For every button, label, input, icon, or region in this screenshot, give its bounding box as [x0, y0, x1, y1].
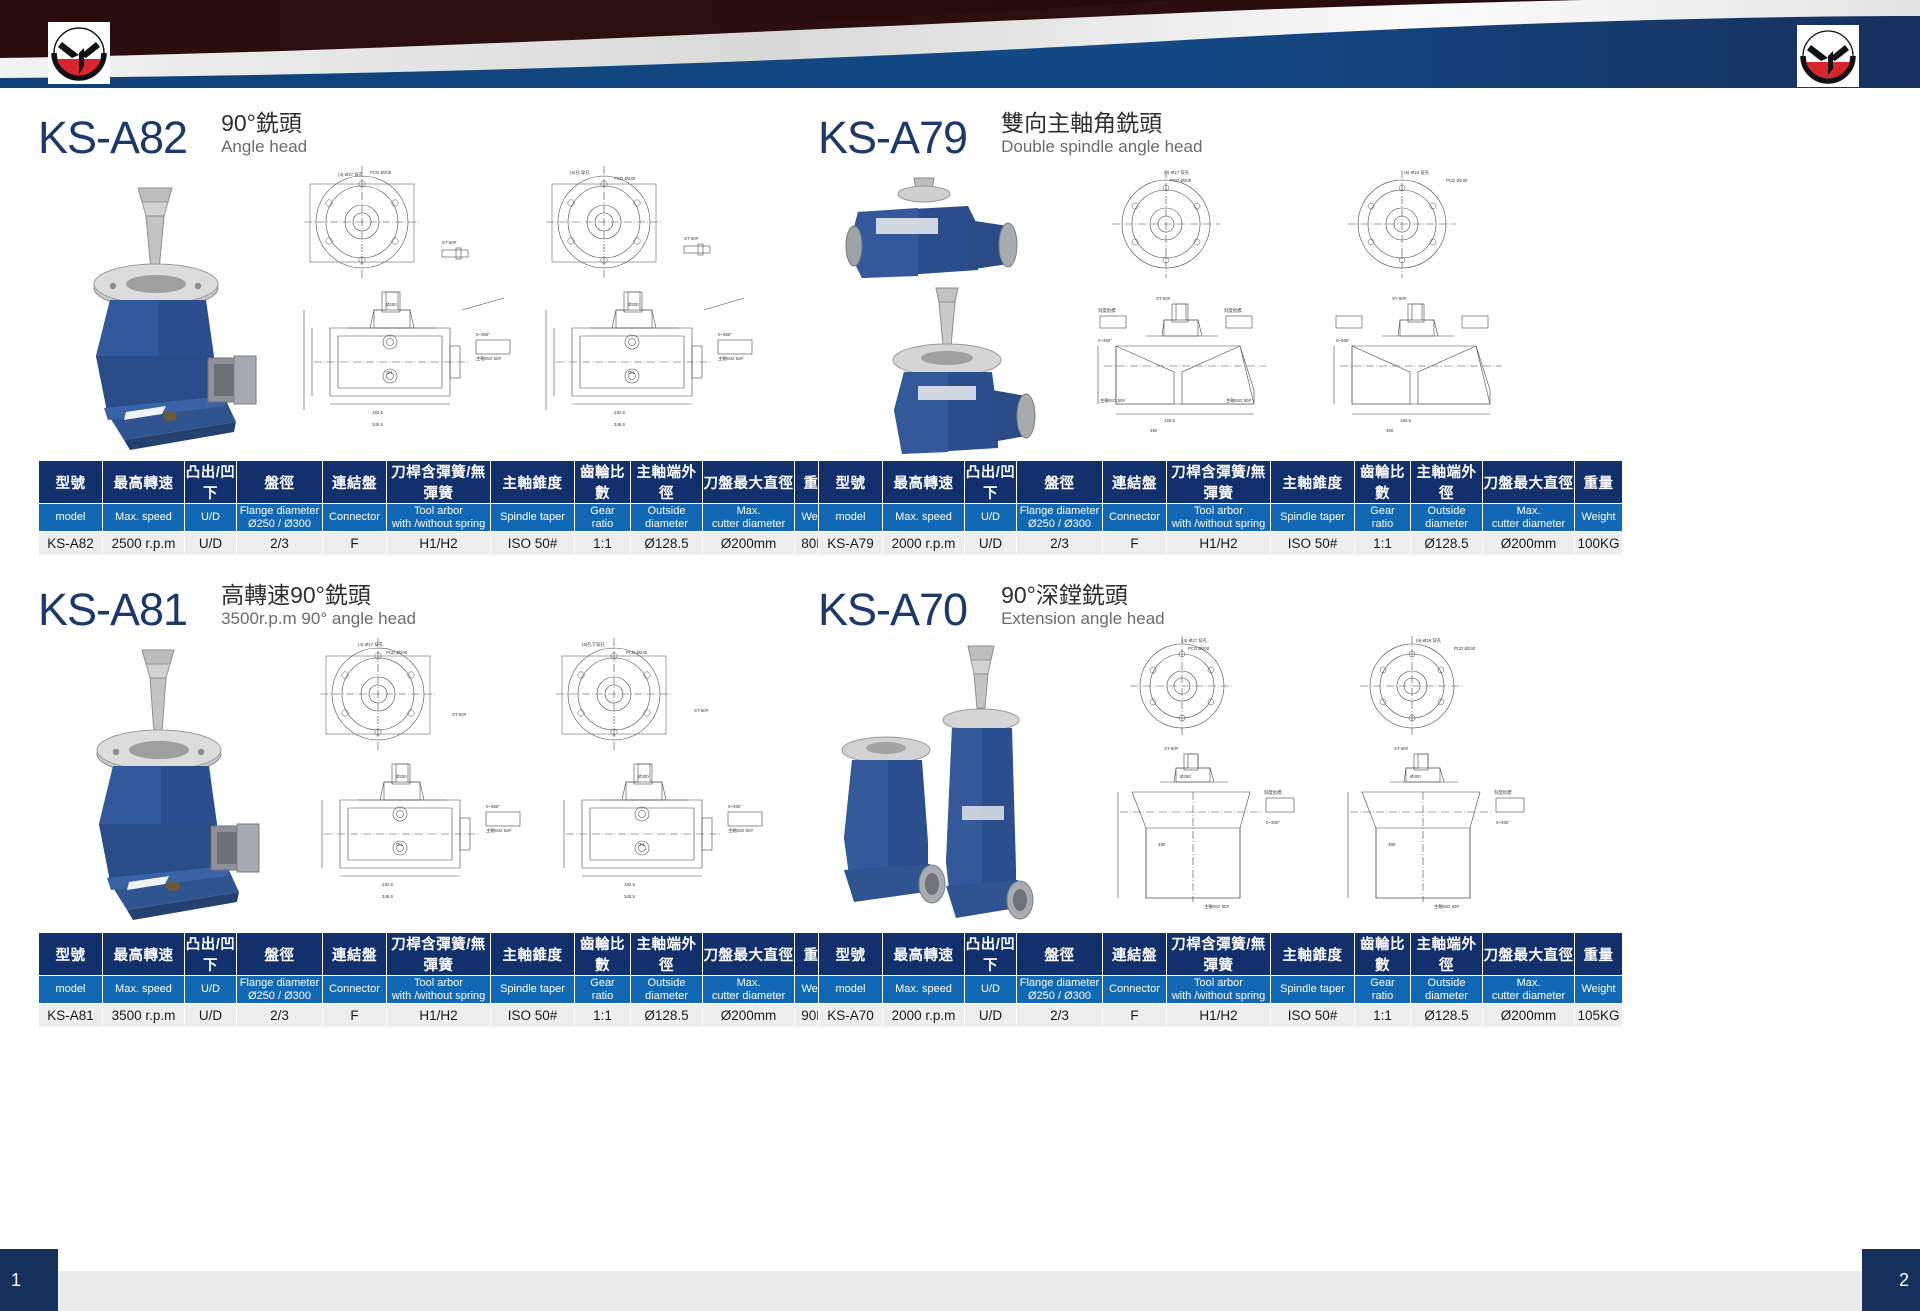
- svg-text:360: 360: [1150, 428, 1158, 433]
- svg-text:刻度指標: 刻度指標: [1494, 789, 1512, 796]
- product-title-en: Angle head: [221, 137, 307, 157]
- table-header-row-en: model Max. speed U/D Flange diameterØ250…: [819, 976, 1623, 1004]
- cell-spindle-taper: ISO 50#: [1271, 1004, 1355, 1028]
- svg-text:ST-50#: ST-50#: [1394, 746, 1409, 751]
- table-row: KS-A70 2000 r.p.m U/D 2/3 F H1/H2 ISO 50…: [819, 1004, 1623, 1028]
- th-cn-flange: 盤徑: [1017, 461, 1103, 504]
- table-header-row-cn: 型號 最高轉速 凸出/凹下 盤徑 連結盤 刀桿含彈簧/無彈簧 主軸錐度 齒輪比數…: [39, 461, 843, 504]
- svg-text:0~360°: 0~360°: [1496, 820, 1510, 825]
- th-cn-spindle-taper: 主軸錐度: [491, 933, 575, 976]
- th-cn-flange: 盤徑: [1017, 933, 1103, 976]
- th-cn-gear-ratio: 齒輪比數: [1355, 461, 1411, 504]
- th-cn-max-speed: 最高轉速: [103, 933, 185, 976]
- cell-outside-dia: Ø128.5: [1411, 532, 1483, 556]
- svg-text:OIL: OIL: [396, 842, 404, 847]
- cell-spindle-taper: ISO 50#: [491, 1004, 575, 1028]
- th-cn-max-cutter: 刀盤最大直徑: [1483, 461, 1575, 504]
- th-en-ud: U/D: [185, 976, 237, 1004]
- cell-spindle-taper: ISO 50#: [491, 532, 575, 556]
- product-title-cn: 90°銑頭: [221, 110, 307, 136]
- page-number-left: 1: [0, 1249, 58, 1311]
- svg-text:(4)-Ø17 穿孔: (4)-Ø17 穿孔: [1164, 169, 1190, 176]
- th-en-gear-ratio: Gearratio: [575, 976, 631, 1004]
- table-header-row-cn: 型號 最高轉速 凸出/凹下 盤徑 連結盤 刀桿含彈簧/無彈簧 主軸錐度 齒輪比數…: [39, 933, 843, 976]
- svg-text:刻度指標: 刻度指標: [1224, 307, 1242, 314]
- svg-text:160.5: 160.5: [1400, 418, 1412, 423]
- product-title-en: Extension angle head: [1001, 609, 1165, 629]
- svg-text:ST-50#: ST-50#: [1392, 296, 1407, 301]
- th-cn-ud: 凸出/凹下: [185, 461, 237, 504]
- product-photo: [38, 632, 268, 932]
- svg-text:0~360°: 0~360°: [476, 332, 490, 337]
- spec-table-ks-a70: 型號 最高轉速 凸出/凹下 盤徑 連結盤 刀桿含彈簧/無彈簧 主軸錐度 齒輪比數…: [818, 932, 1623, 1028]
- svg-text:480: 480: [1388, 842, 1396, 847]
- th-en-gear-ratio: Gearratio: [1355, 976, 1411, 1004]
- cell-spindle-taper: ISO 50#: [1271, 532, 1355, 556]
- page-number-right: 2: [1862, 1249, 1920, 1311]
- th-cn-weight: 重量: [1575, 461, 1623, 504]
- svg-text:345.5: 345.5: [624, 894, 636, 899]
- th-cn-spindle-taper: 主軸錐度: [1271, 461, 1355, 504]
- svg-text:182.5: 182.5: [614, 410, 626, 415]
- product-model-name: KS-A70: [818, 587, 967, 632]
- cell-tool-arbor: H1/H2: [1167, 532, 1271, 556]
- cell-outside-dia: Ø128.5: [631, 532, 703, 556]
- svg-text:刻度指標: 刻度指標: [1264, 789, 1282, 796]
- th-cn-model: 型號: [39, 933, 103, 976]
- product-block-ks-a79: KS-A79 雙向主軸角銑頭 Double spindle angle head: [818, 88, 1578, 556]
- svg-text:345.5: 345.5: [614, 422, 626, 427]
- cell-flange: 2/3: [1017, 1004, 1103, 1028]
- svg-text:0~360°: 0~360°: [728, 804, 742, 809]
- th-cn-tool-arbor: 刀桿含彈簧/無彈簧: [1167, 461, 1271, 504]
- svg-text:(4)-Ø17 穿孔: (4)-Ø17 穿孔: [358, 641, 384, 648]
- th-en-flange: Flange diameterØ250 / Ø300: [1017, 504, 1103, 532]
- th-cn-spindle-taper: 主軸錐度: [491, 461, 575, 504]
- th-en-spindle-taper: Spindle taper: [491, 976, 575, 1004]
- th-en-ud: U/D: [185, 504, 237, 532]
- cell-connector: F: [1103, 532, 1167, 556]
- th-en-weight: Weight: [1575, 504, 1623, 532]
- table-row: KS-A81 3500 r.p.m U/D 2/3 F H1/H2 ISO 50…: [39, 1004, 843, 1028]
- th-en-gear-ratio: Gearratio: [1355, 504, 1411, 532]
- th-en-max-cutter: Max.cutter diameter: [703, 976, 795, 1004]
- th-cn-tool-arbor: 刀桿含彈簧/無彈簧: [1167, 933, 1271, 976]
- cell-flange: 2/3: [1017, 532, 1103, 556]
- product-photo: [818, 160, 1048, 460]
- svg-text:Ø250: Ø250: [1180, 774, 1191, 779]
- th-en-spindle-taper: Spindle taper: [1271, 976, 1355, 1004]
- product-photo: [818, 632, 1048, 932]
- th-cn-ud: 凸出/凹下: [965, 933, 1017, 976]
- th-en-max-speed: Max. speed: [103, 976, 185, 1004]
- table-row: KS-A82 2500 r.p.m U/D 2/3 F H1/H2 ISO 50…: [39, 532, 843, 556]
- th-en-max-cutter: Max.cutter diameter: [703, 504, 795, 532]
- product-title-en: 3500r.p.m 90° angle head: [221, 609, 416, 629]
- product-title-en: Double spindle angle head: [1001, 137, 1202, 157]
- cell-max-speed: 2500 r.p.m: [103, 532, 185, 556]
- th-cn-max-speed: 最高轉速: [103, 461, 185, 504]
- svg-text:主軸ISO 50#: 主軸ISO 50#: [1226, 397, 1251, 404]
- cell-gear-ratio: 1:1: [575, 532, 631, 556]
- product-photo: [38, 160, 268, 460]
- svg-text:主軸ISO 50#: 主軸ISO 50#: [1434, 903, 1459, 910]
- product-title-cn: 雙向主軸角銑頭: [1001, 110, 1202, 136]
- svg-text:PCD Ø200: PCD Ø200: [1188, 646, 1210, 651]
- th-en-max-speed: Max. speed: [883, 976, 965, 1004]
- product-title-row: KS-A70 90°深鏜銑頭 Extension angle head: [818, 560, 1578, 632]
- svg-text:345.5: 345.5: [372, 422, 384, 427]
- svg-text:PCD Ø240: PCD Ø240: [1446, 178, 1468, 183]
- spec-table-ks-a82: 型號 最高轉速 凸出/凹下 盤徑 連結盤 刀桿含彈簧/無彈簧 主軸錐度 齒輪比數…: [38, 460, 843, 556]
- product-title-row: KS-A82 90°銑頭 Angle head: [38, 88, 798, 160]
- cell-flange: 2/3: [237, 1004, 323, 1028]
- product-media: (4)-Ø17 穿孔 PCD Ø200 (6)-Ø19 穿孔 PCD Ø240 …: [818, 632, 1578, 932]
- svg-text:0~360°: 0~360°: [1098, 338, 1112, 343]
- cell-connector: F: [323, 1004, 387, 1028]
- svg-text:Ø300: Ø300: [1410, 774, 1421, 779]
- th-cn-model: 型號: [819, 933, 883, 976]
- cell-tool-arbor: H1/H2: [387, 532, 491, 556]
- th-en-tool-arbor: Tool arborwith /without spring: [1167, 504, 1271, 532]
- cell-model: KS-A70: [819, 1004, 883, 1028]
- cell-ud: U/D: [185, 532, 237, 556]
- cell-weight: 105KG: [1575, 1004, 1623, 1028]
- svg-text:OIL: OIL: [638, 842, 646, 847]
- th-en-tool-arbor: Tool arborwith /without spring: [1167, 976, 1271, 1004]
- technical-drawings: (4)-Ø17 穿孔 PCD Ø200 (6)-Ø19 穿孔 PCD Ø240 …: [1054, 632, 1578, 932]
- cell-max-speed: 3500 r.p.m: [103, 1004, 185, 1028]
- technical-drawings: (4)-Ø17 穿孔 PCD Ø200 (6)-Ø19 穿孔 PCD Ø240 …: [1054, 160, 1578, 460]
- th-cn-gear-ratio: 齒輪比數: [575, 461, 631, 504]
- th-cn-max-cutter: 刀盤最大直徑: [1483, 933, 1575, 976]
- svg-text:Ø250: Ø250: [396, 774, 407, 779]
- cell-max-cutter: Ø200mm: [703, 532, 795, 556]
- svg-text:0~360°: 0~360°: [1266, 820, 1280, 825]
- product-title-row: KS-A81 高轉速90°銑頭 3500r.p.m 90° angle head: [38, 560, 798, 632]
- th-cn-flange: 盤徑: [237, 461, 323, 504]
- svg-text:ST-50#: ST-50#: [1156, 296, 1171, 301]
- th-en-outside-dia: Outsidediameter: [1411, 976, 1483, 1004]
- cell-ud: U/D: [965, 1004, 1017, 1028]
- th-en-ud: U/D: [965, 976, 1017, 1004]
- svg-text:Ø300: Ø300: [628, 302, 639, 307]
- product-block-ks-a82: KS-A82 90°銑頭 Angle head: [38, 88, 798, 556]
- technical-drawings: (4)-Ø17 穿孔 PCD Ø200 (6)孔 穿孔 PCD Ø240 ST-…: [274, 160, 798, 460]
- th-cn-connector: 連結盤: [323, 461, 387, 504]
- product-block-ks-a81: KS-A81 高轉速90°銑頭 3500r.p.m 90° angle head: [38, 560, 798, 1028]
- product-model-name: KS-A79: [818, 115, 967, 160]
- svg-text:主軸ISO 50#: 主軸ISO 50#: [718, 355, 743, 362]
- th-en-flange: Flange diameterØ250 / Ø300: [237, 504, 323, 532]
- th-cn-connector: 連結盤: [1103, 933, 1167, 976]
- svg-text:主軸ISO 50#: 主軸ISO 50#: [486, 827, 511, 834]
- svg-text:Ø250: Ø250: [386, 302, 397, 307]
- footer-bar: [0, 1271, 1920, 1311]
- th-en-outside-dia: Outsidediameter: [1411, 504, 1483, 532]
- cell-max-speed: 2000 r.p.m: [883, 532, 965, 556]
- cell-model: KS-A79: [819, 532, 883, 556]
- th-en-connector: Connector: [1103, 504, 1167, 532]
- cell-outside-dia: Ø128.5: [1411, 1004, 1483, 1028]
- svg-text:182.5: 182.5: [624, 882, 636, 887]
- svg-text:0~360°: 0~360°: [718, 332, 732, 337]
- th-en-model: model: [39, 504, 103, 532]
- svg-text:182.5: 182.5: [372, 410, 384, 415]
- cell-gear-ratio: 1:1: [1355, 532, 1411, 556]
- svg-text:(4)-Ø17 穿孔: (4)-Ø17 穿孔: [1182, 637, 1208, 644]
- th-en-max-cutter: Max.cutter diameter: [1483, 976, 1575, 1004]
- cell-connector: F: [323, 532, 387, 556]
- cell-flange: 2/3: [237, 532, 323, 556]
- table-header-row-en: model Max. speed U/D Flange diameterØ250…: [39, 976, 843, 1004]
- th-cn-outside-dia: 主軸端外徑: [631, 933, 703, 976]
- product-title-cn: 高轉速90°銑頭: [221, 582, 416, 608]
- cell-max-cutter: Ø200mm: [1483, 532, 1575, 556]
- cell-tool-arbor: H1/H2: [387, 1004, 491, 1028]
- th-en-outside-dia: Outsidediameter: [631, 504, 703, 532]
- company-logo-left: [48, 22, 110, 84]
- svg-text:PCD Ø240: PCD Ø240: [626, 650, 648, 655]
- svg-text:OIL: OIL: [628, 370, 636, 375]
- product-title-cn: 90°深鏜銑頭: [1001, 582, 1165, 608]
- th-en-spindle-taper: Spindle taper: [1271, 504, 1355, 532]
- th-cn-ud: 凸出/凹下: [965, 461, 1017, 504]
- svg-text:OIL: OIL: [386, 370, 394, 375]
- cell-tool-arbor: H1/H2: [1167, 1004, 1271, 1028]
- th-en-model: model: [39, 976, 103, 1004]
- product-media: (4)-Ø17 穿孔 PCD Ø200 (6)孔下穿孔 PCD Ø240 ST-…: [38, 632, 798, 932]
- company-logo-right: [1797, 25, 1859, 87]
- th-en-flange: Flange diameterØ250 / Ø300: [237, 976, 323, 1004]
- svg-text:主軸ISO 50#: 主軸ISO 50#: [728, 827, 753, 834]
- product-media: (4)-Ø17 穿孔 PCD Ø200 (6)孔 穿孔 PCD Ø240 ST-…: [38, 160, 798, 460]
- spec-table-ks-a81: 型號 最高轉速 凸出/凹下 盤徑 連結盤 刀桿含彈簧/無彈簧 主軸錐度 齒輪比數…: [38, 932, 843, 1028]
- svg-text:PCD Ø200: PCD Ø200: [1170, 178, 1192, 183]
- svg-text:360: 360: [1386, 428, 1394, 433]
- th-en-weight: Weight: [1575, 976, 1623, 1004]
- cell-ud: U/D: [965, 532, 1017, 556]
- product-media: (4)-Ø17 穿孔 PCD Ø200 (6)-Ø19 穿孔 PCD Ø240 …: [818, 160, 1578, 460]
- th-en-flange: Flange diameterØ250 / Ø300: [1017, 976, 1103, 1004]
- cell-weight: 100KG: [1575, 532, 1623, 556]
- svg-text:ST-50#: ST-50#: [452, 712, 467, 717]
- th-en-connector: Connector: [1103, 976, 1167, 1004]
- th-cn-tool-arbor: 刀桿含彈簧/無彈簧: [387, 933, 491, 976]
- th-en-max-cutter: Max.cutter diameter: [1483, 504, 1575, 532]
- cell-model: KS-A82: [39, 532, 103, 556]
- svg-text:ST-50#: ST-50#: [694, 708, 709, 713]
- th-cn-weight: 重量: [1575, 933, 1623, 976]
- svg-text:主軸ISO 50#: 主軸ISO 50#: [1100, 397, 1125, 404]
- th-en-gear-ratio: Gearratio: [575, 504, 631, 532]
- cell-max-speed: 2000 r.p.m: [883, 1004, 965, 1028]
- th-en-model: model: [819, 504, 883, 532]
- th-en-connector: Connector: [323, 976, 387, 1004]
- table-header-row-cn: 型號 最高轉速 凸出/凹下 盤徑 連結盤 刀桿含彈簧/無彈簧 主軸錐度 齒輪比數…: [819, 461, 1623, 504]
- svg-text:345.5: 345.5: [382, 894, 394, 899]
- th-cn-max-speed: 最高轉速: [883, 461, 965, 504]
- table-header-row-en: model Max. speed U/D Flange diameterØ250…: [819, 504, 1623, 532]
- th-cn-model: 型號: [39, 461, 103, 504]
- cell-connector: F: [1103, 1004, 1167, 1028]
- svg-text:(6)孔下穿孔: (6)孔下穿孔: [582, 641, 606, 648]
- table-header-row-en: model Max. speed U/D Flange diameterØ250…: [39, 504, 843, 532]
- th-en-spindle-taper: Spindle taper: [491, 504, 575, 532]
- th-cn-gear-ratio: 齒輪比數: [1355, 933, 1411, 976]
- cell-gear-ratio: 1:1: [575, 1004, 631, 1028]
- cell-max-cutter: Ø200mm: [1483, 1004, 1575, 1028]
- svg-text:PCD Ø200: PCD Ø200: [386, 650, 408, 655]
- svg-text:Ø300: Ø300: [638, 774, 649, 779]
- technical-drawings: (4)-Ø17 穿孔 PCD Ø200 (6)孔下穿孔 PCD Ø240 ST-…: [274, 632, 798, 932]
- svg-text:主軸ISO 50#: 主軸ISO 50#: [1204, 903, 1229, 910]
- product-model-name: KS-A82: [38, 115, 187, 160]
- th-cn-outside-dia: 主軸端外徑: [1411, 933, 1483, 976]
- th-en-max-speed: Max. speed: [883, 504, 965, 532]
- th-cn-flange: 盤徑: [237, 933, 323, 976]
- th-cn-max-cutter: 刀盤最大直徑: [703, 461, 795, 504]
- svg-text:ST-50#: ST-50#: [1164, 746, 1179, 751]
- svg-text:480: 480: [1158, 842, 1166, 847]
- th-cn-ud: 凸出/凹下: [185, 933, 237, 976]
- spec-table-ks-a79: 型號 最高轉速 凸出/凹下 盤徑 連結盤 刀桿含彈簧/無彈簧 主軸錐度 齒輪比數…: [818, 460, 1623, 556]
- th-en-tool-arbor: Tool arborwith /without spring: [387, 504, 491, 532]
- svg-text:主軸ISO 50#: 主軸ISO 50#: [476, 355, 501, 362]
- svg-text:PCD Ø200: PCD Ø200: [370, 170, 392, 175]
- th-cn-max-speed: 最高轉速: [883, 933, 965, 976]
- svg-text:160.5: 160.5: [1164, 418, 1176, 423]
- svg-text:ST-50#: ST-50#: [442, 240, 457, 245]
- th-cn-tool-arbor: 刀桿含彈簧/無彈簧: [387, 461, 491, 504]
- th-en-model: model: [819, 976, 883, 1004]
- th-cn-outside-dia: 主軸端外徑: [631, 461, 703, 504]
- catalog-page: KS-A82 90°銑頭 Angle head: [0, 0, 1920, 1311]
- th-en-connector: Connector: [323, 504, 387, 532]
- svg-text:(6)-Ø19 穿孔: (6)-Ø19 穿孔: [1404, 169, 1430, 176]
- product-model-name: KS-A81: [38, 587, 187, 632]
- svg-text:(4)-Ø17 穿孔: (4)-Ø17 穿孔: [338, 171, 364, 178]
- svg-text:(6)-Ø19 穿孔: (6)-Ø19 穿孔: [1416, 637, 1442, 644]
- th-en-max-speed: Max. speed: [103, 504, 185, 532]
- th-cn-connector: 連結盤: [1103, 461, 1167, 504]
- cell-model: KS-A81: [39, 1004, 103, 1028]
- svg-text:ST-50#: ST-50#: [684, 236, 699, 241]
- th-cn-gear-ratio: 齒輪比數: [575, 933, 631, 976]
- cell-gear-ratio: 1:1: [1355, 1004, 1411, 1028]
- cell-ud: U/D: [185, 1004, 237, 1028]
- th-cn-model: 型號: [819, 461, 883, 504]
- table-row: KS-A79 2000 r.p.m U/D 2/3 F H1/H2 ISO 50…: [819, 532, 1623, 556]
- table-header-row-cn: 型號 最高轉速 凸出/凹下 盤徑 連結盤 刀桿含彈簧/無彈簧 主軸錐度 齒輪比數…: [819, 933, 1623, 976]
- th-cn-outside-dia: 主軸端外徑: [1411, 461, 1483, 504]
- th-en-ud: U/D: [965, 504, 1017, 532]
- svg-text:刻度指標: 刻度指標: [1098, 307, 1116, 314]
- cell-outside-dia: Ø128.5: [631, 1004, 703, 1028]
- th-cn-max-cutter: 刀盤最大直徑: [703, 933, 795, 976]
- svg-text:PCD Ø240: PCD Ø240: [614, 176, 636, 181]
- svg-text:PCD Ø240: PCD Ø240: [1454, 646, 1476, 651]
- svg-text:0~360°: 0~360°: [486, 804, 500, 809]
- th-en-outside-dia: Outsidediameter: [631, 976, 703, 1004]
- product-block-ks-a70: KS-A70 90°深鏜銑頭 Extension angle head: [818, 560, 1578, 1028]
- cell-max-cutter: Ø200mm: [703, 1004, 795, 1028]
- th-cn-connector: 連結盤: [323, 933, 387, 976]
- th-cn-spindle-taper: 主軸錐度: [1271, 933, 1355, 976]
- svg-text:0~360°: 0~360°: [1336, 338, 1350, 343]
- header-banner: [0, 0, 1920, 88]
- product-title-row: KS-A79 雙向主軸角銑頭 Double spindle angle head: [818, 88, 1578, 160]
- svg-text:(6)孔 穿孔: (6)孔 穿孔: [570, 169, 590, 176]
- th-en-tool-arbor: Tool arborwith /without spring: [387, 976, 491, 1004]
- page-footer: 1 2: [0, 1249, 1920, 1311]
- svg-text:182.5: 182.5: [382, 882, 394, 887]
